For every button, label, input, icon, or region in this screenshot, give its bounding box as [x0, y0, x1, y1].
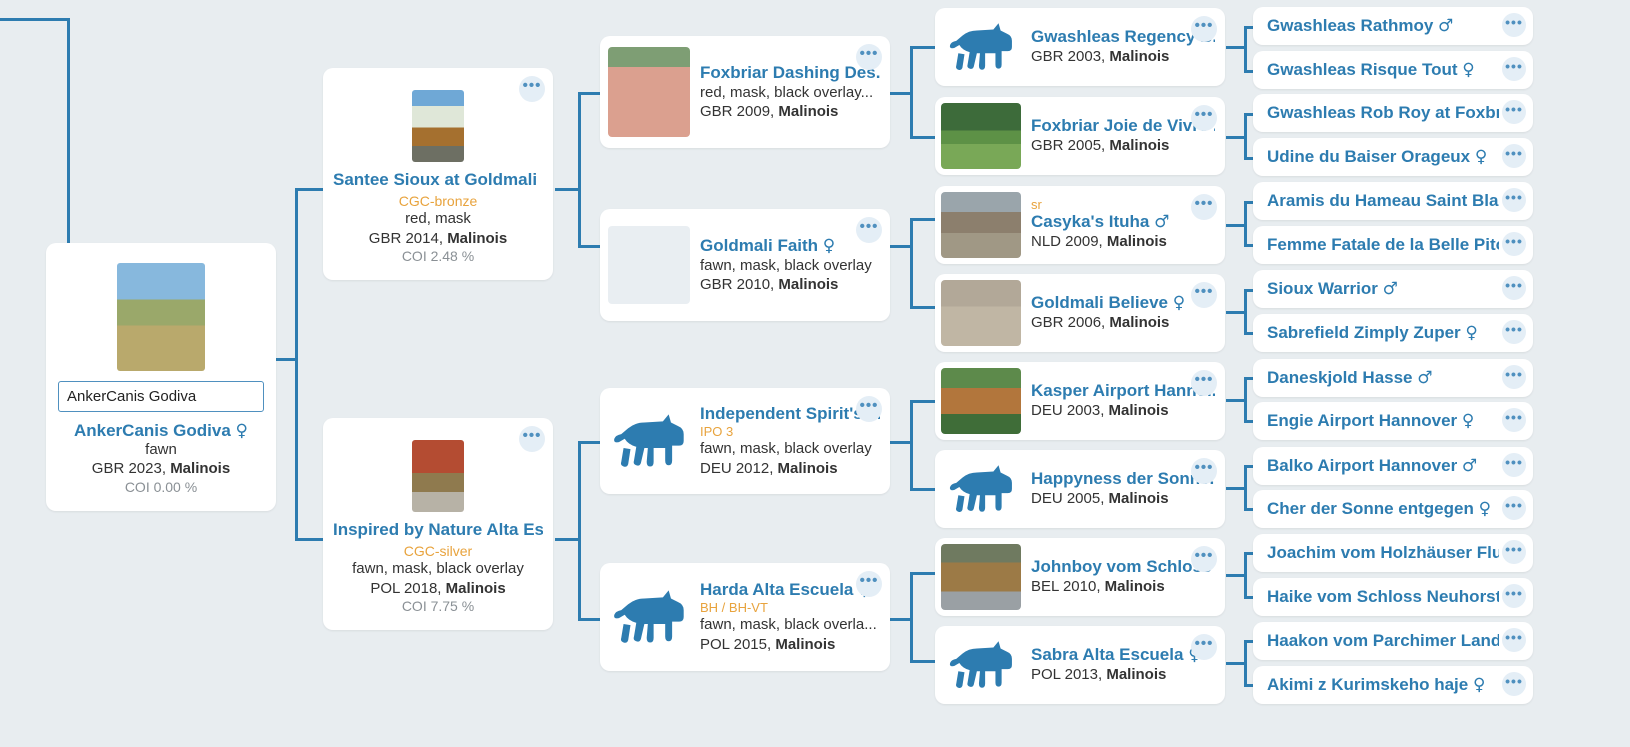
menu-dots-icon[interactable]: ••• — [1502, 13, 1526, 37]
connector — [890, 245, 912, 248]
title-badge: CGC-bronze — [333, 193, 543, 209]
origin-text: GBR 2010, — [700, 276, 778, 293]
breed-text: Malinois — [1109, 490, 1169, 507]
dog-photo — [117, 263, 205, 371]
breed-text: Malinois — [778, 103, 838, 120]
origin-text: NLD 2009, — [1031, 233, 1107, 250]
origin-line: DEU 2003, Malinois — [1031, 401, 1215, 421]
title-badge: sr — [1031, 198, 1215, 212]
menu-dots-icon[interactable]: ••• — [1502, 496, 1526, 520]
menu-dots-icon[interactable]: ••• — [856, 396, 882, 422]
menu-dots-icon[interactable]: ••• — [1191, 546, 1217, 572]
dog-name[interactable]: Inspired by Nature Alta Es... — [333, 520, 543, 540]
origin-text: POL 2013, — [1031, 666, 1106, 683]
pedigree-card-gen1[interactable]: ••• Santee Sioux at Goldmali ♂ CGC-bronz… — [323, 68, 553, 280]
breed-text: Malinois — [778, 276, 838, 293]
pedigree-card-root[interactable]: AnkerCanis Godiva ♀ fawn GBR 2023, Malin… — [46, 243, 276, 511]
origin-line: GBR 2006, Malinois — [1031, 313, 1215, 333]
pedigree-card-gen4[interactable]: ••• Akimi z Kurimskeho haje ♀ — [1253, 666, 1533, 704]
dog-name-text: Goldmali Faith — [700, 236, 818, 255]
menu-dots-icon[interactable]: ••• — [1191, 634, 1217, 660]
dog-name[interactable]: Gwashleas Regency B... — [1031, 27, 1215, 47]
menu-dots-icon[interactable]: ••• — [1502, 144, 1526, 168]
origin-line: GBR 2005, Malinois — [1031, 136, 1215, 156]
dog-name-text: Engie Airport Hannover — [1267, 411, 1457, 430]
dog-name[interactable]: Independent Spirit's I... — [700, 404, 880, 424]
coat-color: red, mask, black overlay... — [700, 83, 880, 103]
dog-name[interactable]: Gwashleas Rathmoy ♂ — [1267, 16, 1453, 36]
menu-dots-icon[interactable]: ••• — [1502, 584, 1526, 608]
pedigree-card-gen2[interactable]: ••• Independent Spirit's I... IPO 3 fawn… — [600, 388, 890, 494]
origin-line: GBR 2014, Malinois — [333, 229, 543, 249]
connector — [910, 136, 935, 139]
pedigree-card-gen4[interactable]: ••• Aramis du Hameau Saint Blaise... — [1253, 182, 1533, 220]
dog-photo — [941, 368, 1021, 434]
sex-icon: ♂ — [1417, 368, 1432, 388]
connector — [910, 660, 935, 663]
dog-photo — [608, 47, 690, 137]
pedigree-card-gen4[interactable]: ••• Udine du Baiser Orageux ♀ — [1253, 138, 1533, 176]
dog-name-text: Foxbriar Joie de Vivre ... — [1031, 116, 1215, 135]
connector — [1226, 574, 1246, 577]
connector — [910, 572, 935, 575]
connector — [890, 441, 912, 444]
sex-icon: ♀ — [236, 421, 248, 441]
origin-line: POL 2018, Malinois — [333, 579, 543, 599]
sex-icon: ♀ — [1462, 60, 1474, 80]
dog-name[interactable]: Joachim vom Holzhäuser Flur ♂ — [1267, 543, 1499, 563]
sex-icon: ♂ — [542, 170, 543, 190]
dog-name-text: Gwashleas Rathmoy — [1267, 16, 1433, 35]
breed-text: Malinois — [1109, 314, 1169, 331]
connector — [275, 358, 297, 361]
dog-name[interactable]: AnkerCanis Godiva ♀ — [58, 421, 264, 441]
coat-color: fawn, mask, black overlay — [333, 559, 543, 579]
dog-name-text: Femme Fatale de la Belle Pitou — [1267, 235, 1499, 254]
pedigree-card-gen4[interactable]: ••• Joachim vom Holzhäuser Flur ♂ — [1253, 534, 1533, 572]
connector — [1244, 465, 1247, 510]
dog-name-text: Gwashleas Risque Tout — [1267, 60, 1458, 79]
connector — [1226, 487, 1246, 490]
origin-line: GBR 2023, Malinois — [58, 460, 264, 479]
connector — [1226, 311, 1246, 314]
menu-dots-icon[interactable]: ••• — [1191, 458, 1217, 484]
title-badge: BH / BH-VT — [700, 600, 880, 615]
dog-name[interactable]: Goldmali Believe ♀ — [1031, 293, 1215, 313]
breed-text: Malinois — [1109, 48, 1169, 65]
coi-value: COI 2.48 % — [333, 248, 543, 264]
menu-dots-icon[interactable]: ••• — [1191, 105, 1217, 131]
pedigree-card-gen1[interactable]: ••• Inspired by Nature Alta Es... CGC-si… — [323, 418, 553, 630]
dog-name-text: Santee Sioux at Goldmali — [333, 170, 537, 189]
pedigree-card-gen2[interactable]: ••• Harda Alta Escuela ♀ BH / BH-VT fawn… — [600, 563, 890, 671]
sex-icon: ♀ — [1173, 293, 1185, 313]
dog-photo — [412, 440, 464, 512]
connector — [1244, 289, 1247, 334]
breed-text: Malinois — [1109, 137, 1169, 154]
connector — [1226, 662, 1246, 665]
menu-dots-icon[interactable]: ••• — [1502, 408, 1526, 432]
dog-name-text: Joachim vom Holzhäuser Flur — [1267, 543, 1499, 562]
dog-photo — [941, 280, 1021, 346]
pedigree-card-gen4[interactable]: ••• Daneskjold Hasse ♂ — [1253, 359, 1533, 397]
dog-name-text: Gwashleas Rob Roy at Foxbriar ... — [1267, 103, 1499, 122]
menu-dots-icon[interactable]: ••• — [856, 44, 882, 70]
connector — [910, 572, 913, 662]
breed-text: Malinois — [778, 460, 838, 477]
breed-text: Malinois — [775, 636, 835, 653]
connector — [910, 218, 935, 221]
dog-name-text: Udine du Baiser Orageux — [1267, 147, 1470, 166]
dog-name[interactable]: Casyka's Ituha ♂ — [1031, 212, 1215, 232]
sex-icon: ♀ — [1462, 411, 1474, 431]
menu-dots-icon[interactable]: ••• — [1191, 194, 1217, 220]
coat-color: fawn, mask, black overla... — [700, 615, 880, 635]
pedigree-card-gen4[interactable]: ••• Cher der Sonne entgegen ♀ — [1253, 490, 1533, 528]
dog-name[interactable]: Gwashleas Risque Tout ♀ — [1267, 60, 1475, 80]
pedigree-card-gen3[interactable]: ••• Gwashleas Regency B... GBR 2003, Mal… — [935, 8, 1225, 86]
dog-name-text: AnkerCanis Godiva — [74, 421, 231, 440]
connector — [295, 188, 323, 191]
pedigree-card-gen3[interactable]: ••• Johnboy vom Schloss ... BEL 2010, Ma… — [935, 538, 1225, 616]
coat-color: fawn — [58, 441, 264, 460]
coat-color: fawn, mask, black overlay — [700, 256, 880, 276]
menu-dots-icon[interactable]: ••• — [1502, 453, 1526, 477]
dog-name[interactable]: Udine du Baiser Orageux ♀ — [1267, 147, 1487, 167]
dog-name-text: Haike vom Schloss Neuhorst — [1267, 587, 1499, 606]
menu-dots-icon[interactable]: ••• — [1191, 282, 1217, 308]
menu-dots-icon[interactable]: ••• — [856, 217, 882, 243]
dog-photo — [412, 90, 464, 162]
origin-text: GBR 2005, — [1031, 137, 1109, 154]
connector — [1244, 640, 1247, 686]
dog-silhouette-icon — [941, 16, 1021, 78]
connector — [555, 188, 580, 191]
pedigree-card-gen3[interactable]: ••• Happyness der Sonne... DEU 2005, Mal… — [935, 450, 1225, 528]
pedigree-canvas: AnkerCanis Godiva ♀ fawn GBR 2023, Malin… — [0, 0, 1630, 747]
pedigree-card-gen3[interactable]: ••• sr Casyka's Ituha ♂ NLD 2009, Malino… — [935, 186, 1225, 264]
origin-text: GBR 2003, — [1031, 48, 1109, 65]
dog-name[interactable]: Harda Alta Escuela ♀ — [700, 580, 880, 600]
dog-photo — [608, 226, 690, 304]
title-badge: IPO 3 — [700, 424, 880, 439]
sex-icon: ♀ — [1479, 499, 1491, 519]
pedigree-card-gen4[interactable]: ••• Gwashleas Risque Tout ♀ — [1253, 51, 1533, 89]
origin-line: DEU 2005, Malinois — [1031, 489, 1215, 509]
connector — [1226, 224, 1246, 227]
dog-name-text: Cher der Sonne entgegen — [1267, 499, 1474, 518]
dog-silhouette-icon — [941, 458, 1021, 520]
dog-name-text: Sabra Alta Escuela — [1031, 645, 1183, 664]
dog-name[interactable]: Johnboy vom Schloss ... — [1031, 557, 1215, 577]
dog-name-text: Haakon vom Parchimer Land — [1267, 631, 1499, 650]
connector — [910, 46, 913, 138]
origin-line: GBR 2003, Malinois — [1031, 47, 1215, 67]
menu-dots-icon[interactable]: ••• — [1191, 16, 1217, 42]
dog-name-text: Happyness der Sonne... — [1031, 469, 1215, 488]
dog-name-text: Kasper Airport Hanno... — [1031, 381, 1215, 400]
origin-text: DEU 2003, — [1031, 402, 1109, 419]
dog-name[interactable]: Femme Fatale de la Belle Pitou ♀ — [1267, 235, 1499, 255]
coi-value: COI 0.00 % — [58, 479, 264, 495]
dog-photo — [941, 544, 1021, 610]
pedigree-card-gen4[interactable]: ••• Balko Airport Hannover ♂ — [1253, 447, 1533, 485]
dog-photo — [941, 192, 1021, 258]
dog-silhouette-icon — [941, 634, 1021, 696]
dog-name[interactable]: Sioux Warrior ♂ — [1267, 279, 1398, 299]
origin-text: GBR 2023, — [92, 460, 170, 477]
pedigree-card-gen4[interactable]: ••• Haakon vom Parchimer Land ♂ — [1253, 622, 1533, 660]
origin-text: POL 2015, — [700, 636, 775, 653]
dog-name-text: Sabrefield Zimply Zuper — [1267, 323, 1461, 342]
connector — [1244, 201, 1247, 246]
menu-dots-icon[interactable]: ••• — [1502, 188, 1526, 212]
sex-icon: ♂ — [1462, 456, 1477, 476]
pedigree-card-gen3[interactable]: ••• Sabra Alta Escuela ♀ POL 2013, Malin… — [935, 626, 1225, 704]
dog-name[interactable]: Daneskjold Hasse ♂ — [1267, 368, 1433, 388]
connector — [910, 488, 935, 491]
menu-dots-icon[interactable]: ••• — [519, 76, 545, 102]
origin-line: NLD 2009, Malinois — [1031, 232, 1215, 252]
origin-line: GBR 2009, Malinois — [700, 102, 880, 122]
connector — [578, 441, 581, 621]
connector — [1226, 399, 1246, 402]
origin-text: GBR 2014, — [369, 230, 447, 247]
dog-name[interactable]: Cher der Sonne entgegen ♀ — [1267, 499, 1491, 519]
pedigree-card-gen3[interactable]: ••• Kasper Airport Hanno... DEU 2003, Ma… — [935, 362, 1225, 440]
connector — [295, 538, 323, 541]
menu-dots-icon[interactable]: ••• — [1502, 100, 1526, 124]
dog-name[interactable]: Balko Airport Hannover ♂ — [1267, 456, 1477, 476]
origin-text: POL 2018, — [370, 580, 445, 597]
dog-silhouette-icon — [608, 584, 690, 650]
menu-dots-icon[interactable]: ••• — [1502, 276, 1526, 300]
dog-name[interactable]: Engie Airport Hannover ♀ — [1267, 411, 1474, 431]
sex-icon: ♂ — [1383, 279, 1398, 299]
pedigree-card-gen4[interactable]: ••• Sabrefield Zimply Zuper ♀ — [1253, 314, 1533, 352]
dog-name[interactable]: Happyness der Sonne... — [1031, 469, 1215, 489]
dog-name-text: Sioux Warrior — [1267, 279, 1378, 298]
dog-name-text: Inspired by Nature Alta Es... — [333, 520, 543, 539]
breed-text: Malinois — [446, 580, 506, 597]
connector — [1244, 113, 1247, 159]
dog-name[interactable]: Goldmali Faith ♀ — [700, 236, 880, 256]
sex-icon: ♂ — [1438, 16, 1453, 36]
dog-name-text: Aramis du Hameau Saint Blaise... — [1267, 191, 1499, 210]
dog-name-text: Foxbriar Dashing Des... — [700, 63, 880, 82]
connector — [890, 618, 912, 621]
pedigree-card-gen4[interactable]: ••• Gwashleas Rob Roy at Foxbriar ... — [1253, 94, 1533, 132]
connector — [910, 218, 913, 308]
menu-dots-icon[interactable]: ••• — [856, 571, 882, 597]
dog-silhouette-icon — [608, 408, 690, 474]
origin-text: GBR 2009, — [700, 103, 778, 120]
dog-name-text: Daneskjold Hasse — [1267, 368, 1413, 387]
dog-name[interactable]: Foxbriar Joie de Vivre ... — [1031, 116, 1215, 136]
origin-text: GBR 2006, — [1031, 314, 1109, 331]
dog-name-text: Harda Alta Escuela — [700, 580, 853, 599]
origin-text: DEU 2012, — [700, 460, 778, 477]
pedigree-card-gen3[interactable]: ••• Foxbriar Joie de Vivre ... GBR 2005,… — [935, 97, 1225, 175]
breed-text: Malinois — [170, 460, 230, 477]
pedigree-card-gen4[interactable]: ••• Gwashleas Rathmoy ♂ — [1253, 7, 1533, 45]
dog-name-text: Gwashleas Regency B... — [1031, 27, 1215, 46]
sex-icon: ♀ — [1473, 675, 1485, 695]
origin-line: POL 2013, Malinois — [1031, 665, 1215, 685]
coat-color: fawn, mask, black overlay — [700, 439, 880, 459]
connector — [1244, 552, 1247, 598]
sex-icon: ♀ — [823, 236, 835, 256]
origin-line: BEL 2010, Malinois — [1031, 577, 1215, 597]
dog-name[interactable]: Santee Sioux at Goldmali ♂ — [333, 170, 543, 190]
title-badge: CGC-silver — [333, 543, 543, 559]
connector — [295, 188, 298, 540]
connector — [1244, 377, 1247, 422]
menu-dots-icon[interactable]: ••• — [519, 426, 545, 452]
breed-text: Malinois — [447, 230, 507, 247]
pedigree-card-gen2[interactable]: ••• Foxbriar Dashing Des... red, mask, b… — [600, 36, 890, 148]
pedigree-card-gen4[interactable]: ••• Haike vom Schloss Neuhorst ♀ — [1253, 578, 1533, 616]
dog-name-text: Akimi z Kurimskeho haje — [1267, 675, 1468, 694]
connector — [1226, 46, 1246, 49]
sex-icon: ♀ — [1465, 323, 1477, 343]
connector — [1226, 136, 1246, 139]
connector — [910, 400, 935, 403]
pedigree-card-gen3[interactable]: ••• Goldmali Believe ♀ GBR 2006, Malinoi… — [935, 274, 1225, 352]
menu-dots-icon[interactable]: ••• — [1191, 370, 1217, 396]
menu-dots-icon[interactable]: ••• — [1502, 320, 1526, 344]
connector — [910, 306, 935, 309]
connector — [910, 400, 913, 490]
dog-name[interactable]: Haike vom Schloss Neuhorst ♀ — [1267, 587, 1499, 607]
origin-text: DEU 2005, — [1031, 490, 1109, 507]
connector — [890, 92, 912, 95]
menu-dots-icon[interactable]: ••• — [1502, 628, 1526, 652]
connector — [578, 92, 581, 248]
origin-line: DEU 2012, Malinois — [700, 459, 880, 479]
menu-dots-icon[interactable]: ••• — [1502, 365, 1526, 389]
origin-line: POL 2015, Malinois — [700, 635, 880, 655]
breed-text: Malinois — [1109, 402, 1169, 419]
connector — [0, 18, 70, 21]
coat-color: red, mask — [333, 209, 543, 229]
dog-name[interactable]: Akimi z Kurimskeho haje ♀ — [1267, 675, 1485, 695]
connector — [910, 46, 935, 49]
dog-name-text: Goldmali Believe — [1031, 293, 1168, 312]
menu-dots-icon[interactable]: ••• — [1502, 232, 1526, 256]
breed-text: Malinois — [1106, 666, 1166, 683]
dog-name-text: Independent Spirit's I... — [700, 404, 880, 423]
dog-name[interactable]: Kasper Airport Hanno... — [1031, 381, 1215, 401]
origin-text: BEL 2010, — [1031, 578, 1105, 595]
connector — [555, 538, 580, 541]
dog-name[interactable]: Aramis du Hameau Saint Blaise... — [1267, 191, 1499, 211]
breed-text: Malinois — [1107, 233, 1167, 250]
sex-icon: ♀ — [1475, 147, 1487, 167]
breed-text: Malinois — [1105, 578, 1165, 595]
dog-name[interactable]: Sabrefield Zimply Zuper ♀ — [1267, 323, 1478, 343]
sex-icon: ♂ — [1154, 212, 1169, 232]
menu-dots-icon[interactable]: ••• — [1502, 672, 1526, 696]
coi-value: COI 7.75 % — [333, 598, 543, 614]
menu-dots-icon[interactable]: ••• — [1502, 540, 1526, 564]
connector — [1244, 26, 1247, 73]
dog-name[interactable]: Foxbriar Dashing Des... — [700, 63, 880, 83]
pedigree-card-gen4[interactable]: ••• Engie Airport Hannover ♀ — [1253, 402, 1533, 440]
menu-dots-icon[interactable]: ••• — [1502, 57, 1526, 81]
dog-name-text: Balko Airport Hannover — [1267, 456, 1457, 475]
dog-name[interactable]: Sabra Alta Escuela ♀ — [1031, 645, 1215, 665]
dog-name[interactable]: Haakon vom Parchimer Land ♂ — [1267, 631, 1499, 651]
pedigree-card-gen2[interactable]: ••• Goldmali Faith ♀ fawn, mask, black o… — [600, 209, 890, 321]
origin-line: GBR 2010, Malinois — [700, 275, 880, 295]
root-name-input[interactable] — [58, 381, 264, 412]
pedigree-card-gen4[interactable]: ••• Femme Fatale de la Belle Pitou ♀ — [1253, 226, 1533, 264]
dog-photo — [941, 103, 1021, 169]
pedigree-card-gen4[interactable]: ••• Sioux Warrior ♂ — [1253, 270, 1533, 308]
dog-name-text: Casyka's Ituha — [1031, 212, 1149, 231]
dog-name[interactable]: Gwashleas Rob Roy at Foxbriar ... — [1267, 103, 1499, 123]
dog-name-text: Johnboy vom Schloss ... — [1031, 557, 1215, 576]
